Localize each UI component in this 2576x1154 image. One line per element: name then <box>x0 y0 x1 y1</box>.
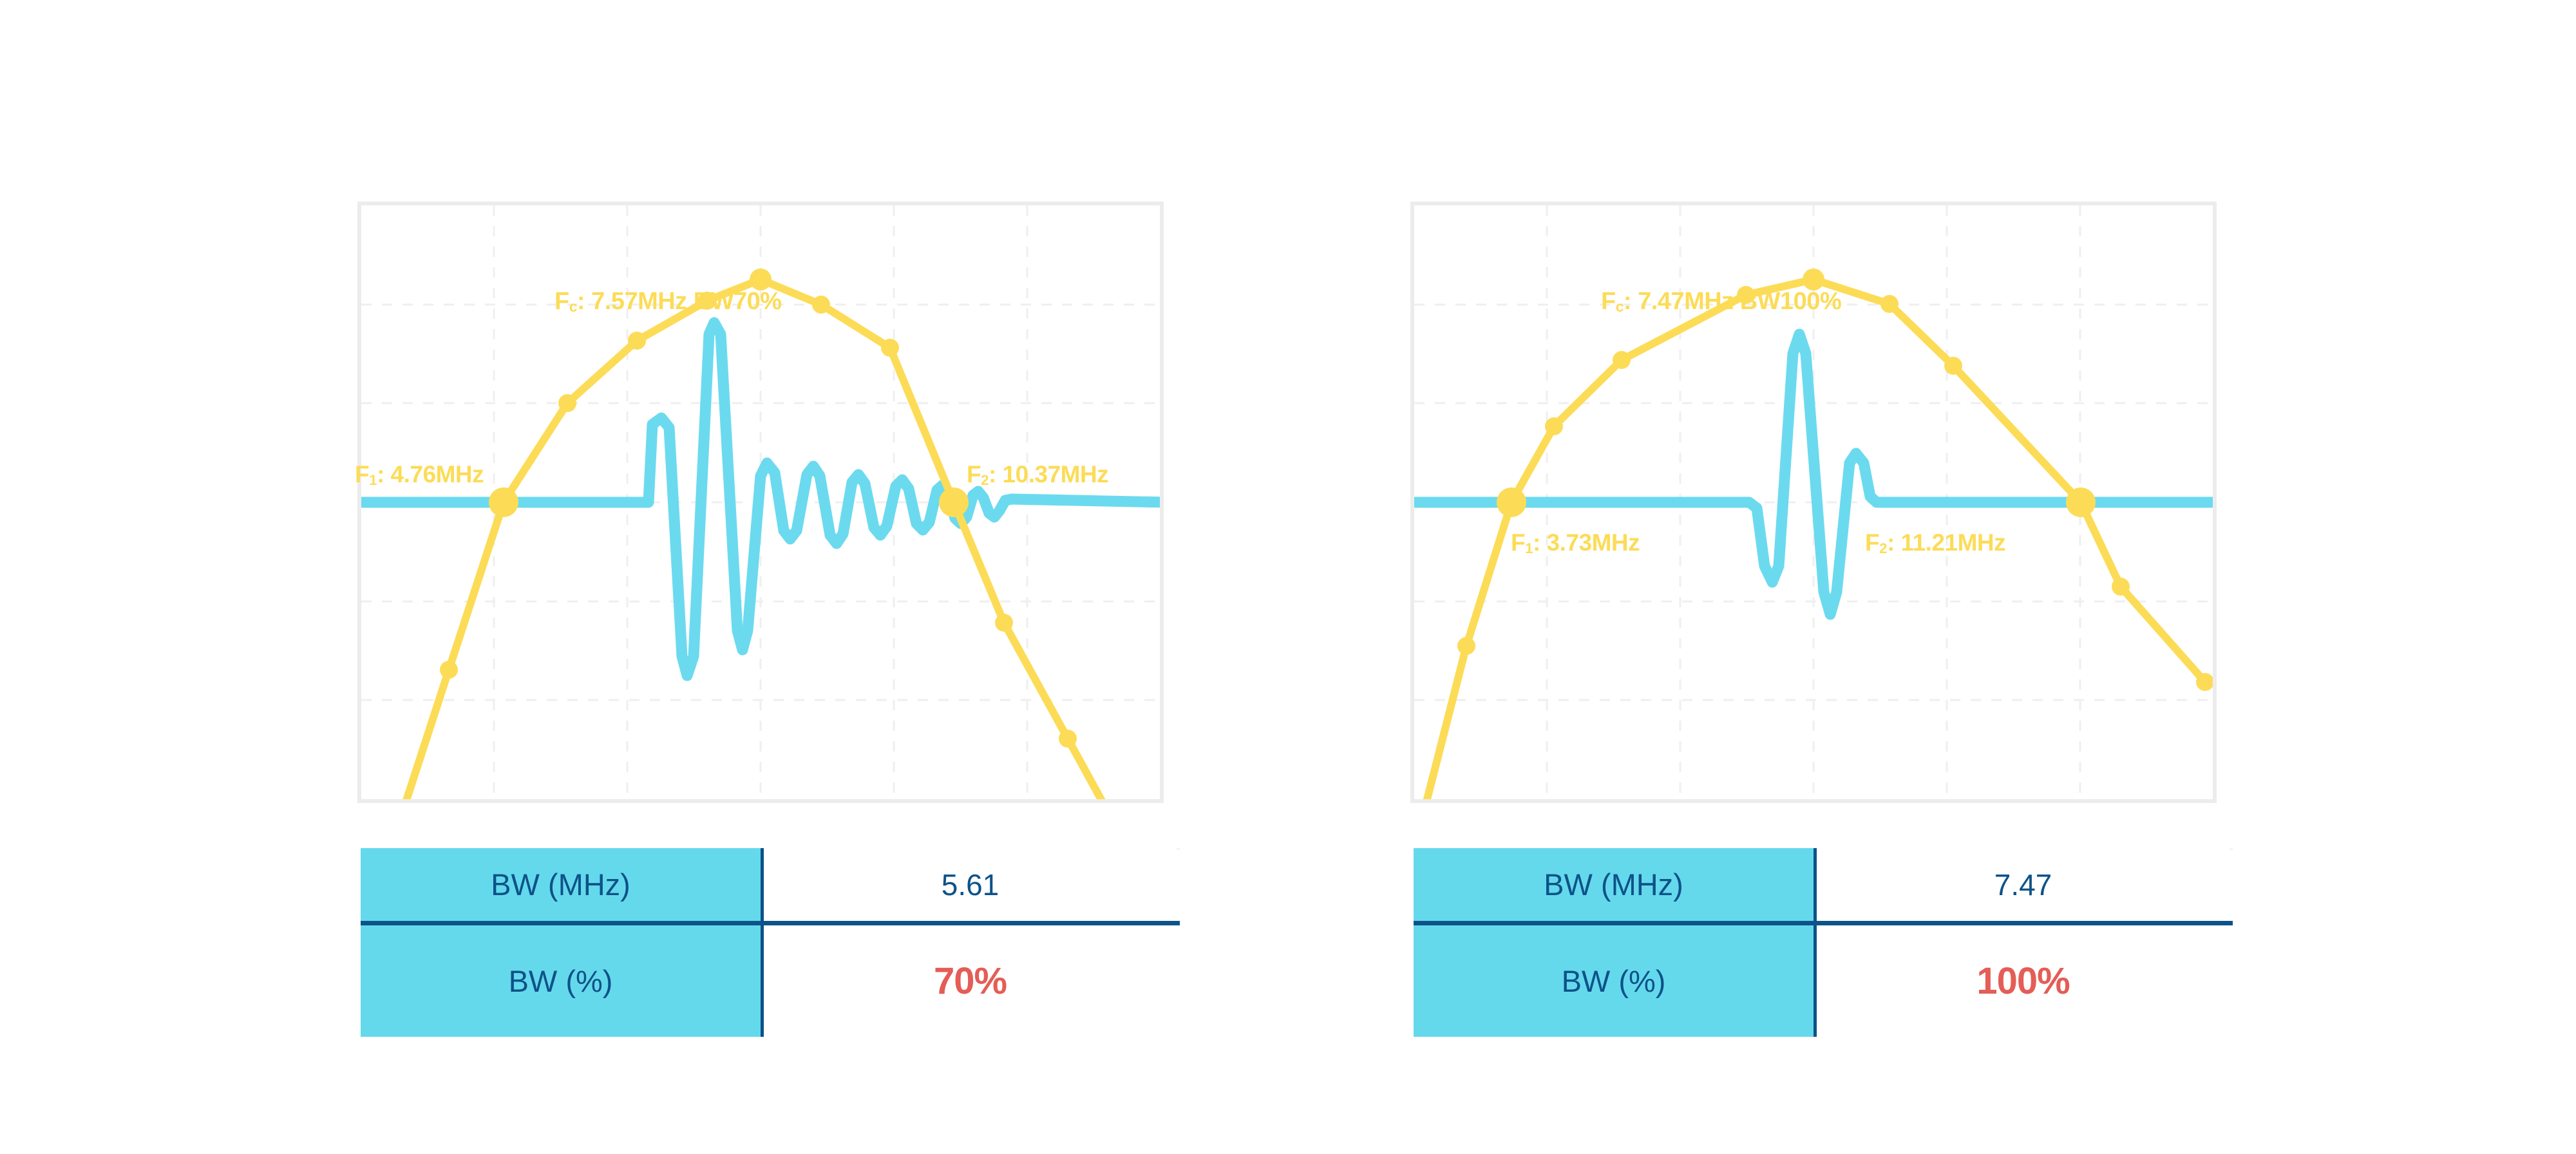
table-row: BW (%) 100% <box>1414 925 2233 1037</box>
annotation-f1-right: F1: 3.73MHz <box>1511 531 1640 556</box>
annotation-f2-text-right: : 11.21MHz <box>1887 529 2005 556</box>
annotation-fc-right: Fc: 7.47MHz BW100% <box>1601 289 1841 314</box>
annotation-f2-symbol-right: F <box>1865 529 1879 556</box>
table-value-bw-mhz-left: 5.61 <box>942 867 999 902</box>
pulse-waveform-right <box>1414 334 2213 614</box>
table-label-bw-mhz-right: BW (MHz) <box>1414 848 1817 921</box>
annotation-f2-right: F2: 11.21MHz <box>1865 531 2005 556</box>
chart-panel-right: Fc: 7.47MHz BW100% F1: 3.73MHz F2: 11.21… <box>1410 202 2217 803</box>
summary-table-right: BW (MHz) 7.47 BW (%) 100% <box>1414 848 2233 1037</box>
annotation-f2-text-left: : 10.37MHz <box>989 461 1108 487</box>
annotation-f2-left: F2: 10.37MHz <box>967 462 1108 487</box>
annotation-f2-subscript-left: 2 <box>981 472 989 488</box>
table-value-bw-percent-left: 70% <box>934 960 1007 1003</box>
annotation-fc-left: Fc: 7.57MHz BW70% <box>554 289 782 314</box>
table-divider-left <box>361 921 1180 925</box>
table-value-cell-bw-mhz-left: 5.61 <box>764 848 1177 921</box>
annotation-f2-symbol-left: F <box>967 461 981 487</box>
annotation-f2-subscript-right: 2 <box>1879 540 1887 556</box>
annotation-f1-symbol-right: F <box>1511 529 1525 556</box>
annotation-fc-text-left: : 7.57MHz BW70% <box>577 288 782 315</box>
annotation-f1-subscript-right: 1 <box>1525 540 1533 556</box>
annotation-fc-subscript-right: c <box>1616 298 1624 315</box>
annotation-f1-text-left: : 4.76MHz <box>377 461 484 487</box>
marker-f1-left <box>489 487 518 517</box>
annotation-f1-symbol-left: F <box>355 461 369 487</box>
table-value-cell-bw-mhz-right: 7.47 <box>1817 848 2230 921</box>
annotation-fc-symbol-right: F <box>1601 288 1616 315</box>
annotation-f1-left: F1: 4.76MHz <box>355 462 484 487</box>
table-label-bw-mhz-left: BW (MHz) <box>361 848 764 921</box>
table-row: BW (MHz) 5.61 <box>361 848 1180 921</box>
table-label-bw-percent-left: BW (%) <box>361 925 764 1037</box>
pulse-waveform-left <box>361 323 1160 676</box>
marker-f2-right <box>2066 487 2096 517</box>
annotation-fc-text-right: : 7.47MHz BW100% <box>1624 288 1841 315</box>
table-value-cell-bw-percent-left: 70% <box>764 925 1177 1037</box>
summary-table-left: BW (MHz) 5.61 BW (%) 70% <box>361 848 1180 1037</box>
table-divider-right <box>1414 921 2233 925</box>
table-row: BW (MHz) 7.47 <box>1414 848 2233 921</box>
envelope-markers-right <box>1457 269 2213 691</box>
marker-f2-left <box>939 487 969 517</box>
table-value-bw-mhz-right: 7.47 <box>1994 867 2052 902</box>
table-value-cell-bw-percent-right: 100% <box>1817 925 2230 1037</box>
table-row: BW (%) 70% <box>361 925 1180 1037</box>
marker-f1-right <box>1497 487 1526 517</box>
chart-panel-left: Fc: 7.57MHz BW70% F1: 4.76MHz F2: 10.37M… <box>357 202 1164 803</box>
annotation-f1-subscript-left: 1 <box>369 472 377 488</box>
annotation-fc-symbol-left: F <box>554 288 569 315</box>
annotation-fc-subscript-left: c <box>569 298 577 315</box>
comparison-board: Fc: 7.57MHz BW70% F1: 4.76MHz F2: 10.37M… <box>0 0 2576 1154</box>
table-value-bw-percent-right: 100% <box>1976 960 2069 1003</box>
annotation-f1-text-right: : 3.73MHz <box>1533 529 1640 556</box>
table-label-bw-percent-right: BW (%) <box>1414 925 1817 1037</box>
